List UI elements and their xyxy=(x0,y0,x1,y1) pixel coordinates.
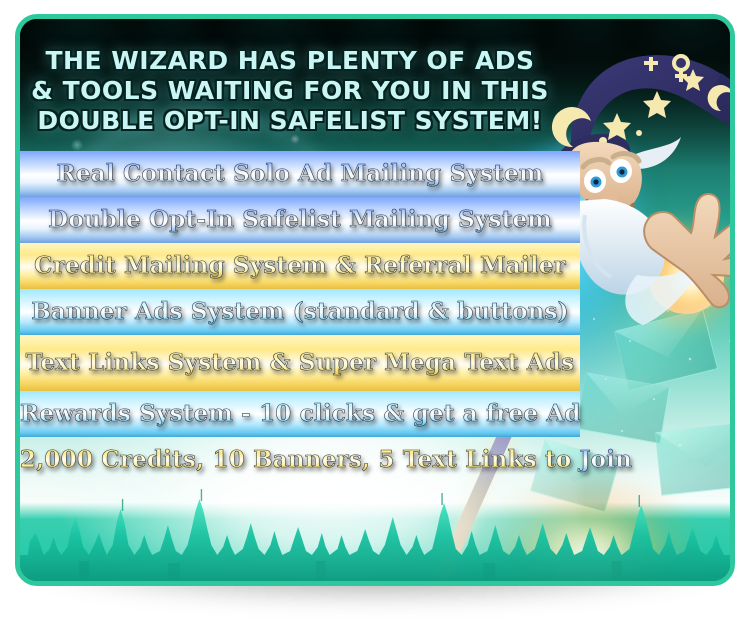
headline-line-1: The Wizard has plenty of ads xyxy=(20,46,560,76)
feature-item: Text Links System & Super Mega Text Ads xyxy=(20,335,580,391)
headline-line-2: & tools waiting for you in this xyxy=(20,76,560,106)
feature-label: Banner Ads System (standard & buttons) xyxy=(31,298,569,325)
feature-item: Real Contact Solo Ad Mailing System xyxy=(20,151,580,197)
feature-label: Text Links System & Super Mega Text Ads xyxy=(26,349,575,376)
feature-item: Double Opt-In Safelist Mailing System xyxy=(20,197,580,243)
join-offer-line: 2,000 Credits, 10 Banners, 5 Text Links … xyxy=(20,437,580,483)
feature-list: Real Contact Solo Ad Mailing System Doub… xyxy=(20,151,580,483)
banner-headline: The Wizard has plenty of ads & tools wai… xyxy=(20,46,560,136)
feature-label: Double Opt-In Safelist Mailing System xyxy=(48,206,552,233)
feature-item: Banner Ads System (standard & buttons) xyxy=(20,289,580,335)
feature-label: Credit Mailing System & Referral Mailer xyxy=(34,252,566,279)
city-skyline-silhouette xyxy=(20,489,730,581)
feature-label: Real Contact Solo Ad Mailing System xyxy=(57,160,544,187)
feature-item: Rewards System - 10 clicks & get a free … xyxy=(20,391,580,437)
feature-item: Credit Mailing System & Referral Mailer xyxy=(20,243,580,289)
feature-label: Rewards System - 10 clicks & get a free … xyxy=(20,400,581,427)
banner-stage: The Wizard has plenty of ads & tools wai… xyxy=(0,0,750,644)
join-offer-cta: Join xyxy=(580,446,632,473)
headline-line-3: Double Opt-In Safelist System! xyxy=(20,106,560,136)
promo-banner[interactable]: The Wizard has plenty of ads & tools wai… xyxy=(15,14,735,586)
join-offer-credits: 2,000 Credits, 10 Banners, 5 Text Links … xyxy=(20,446,580,473)
